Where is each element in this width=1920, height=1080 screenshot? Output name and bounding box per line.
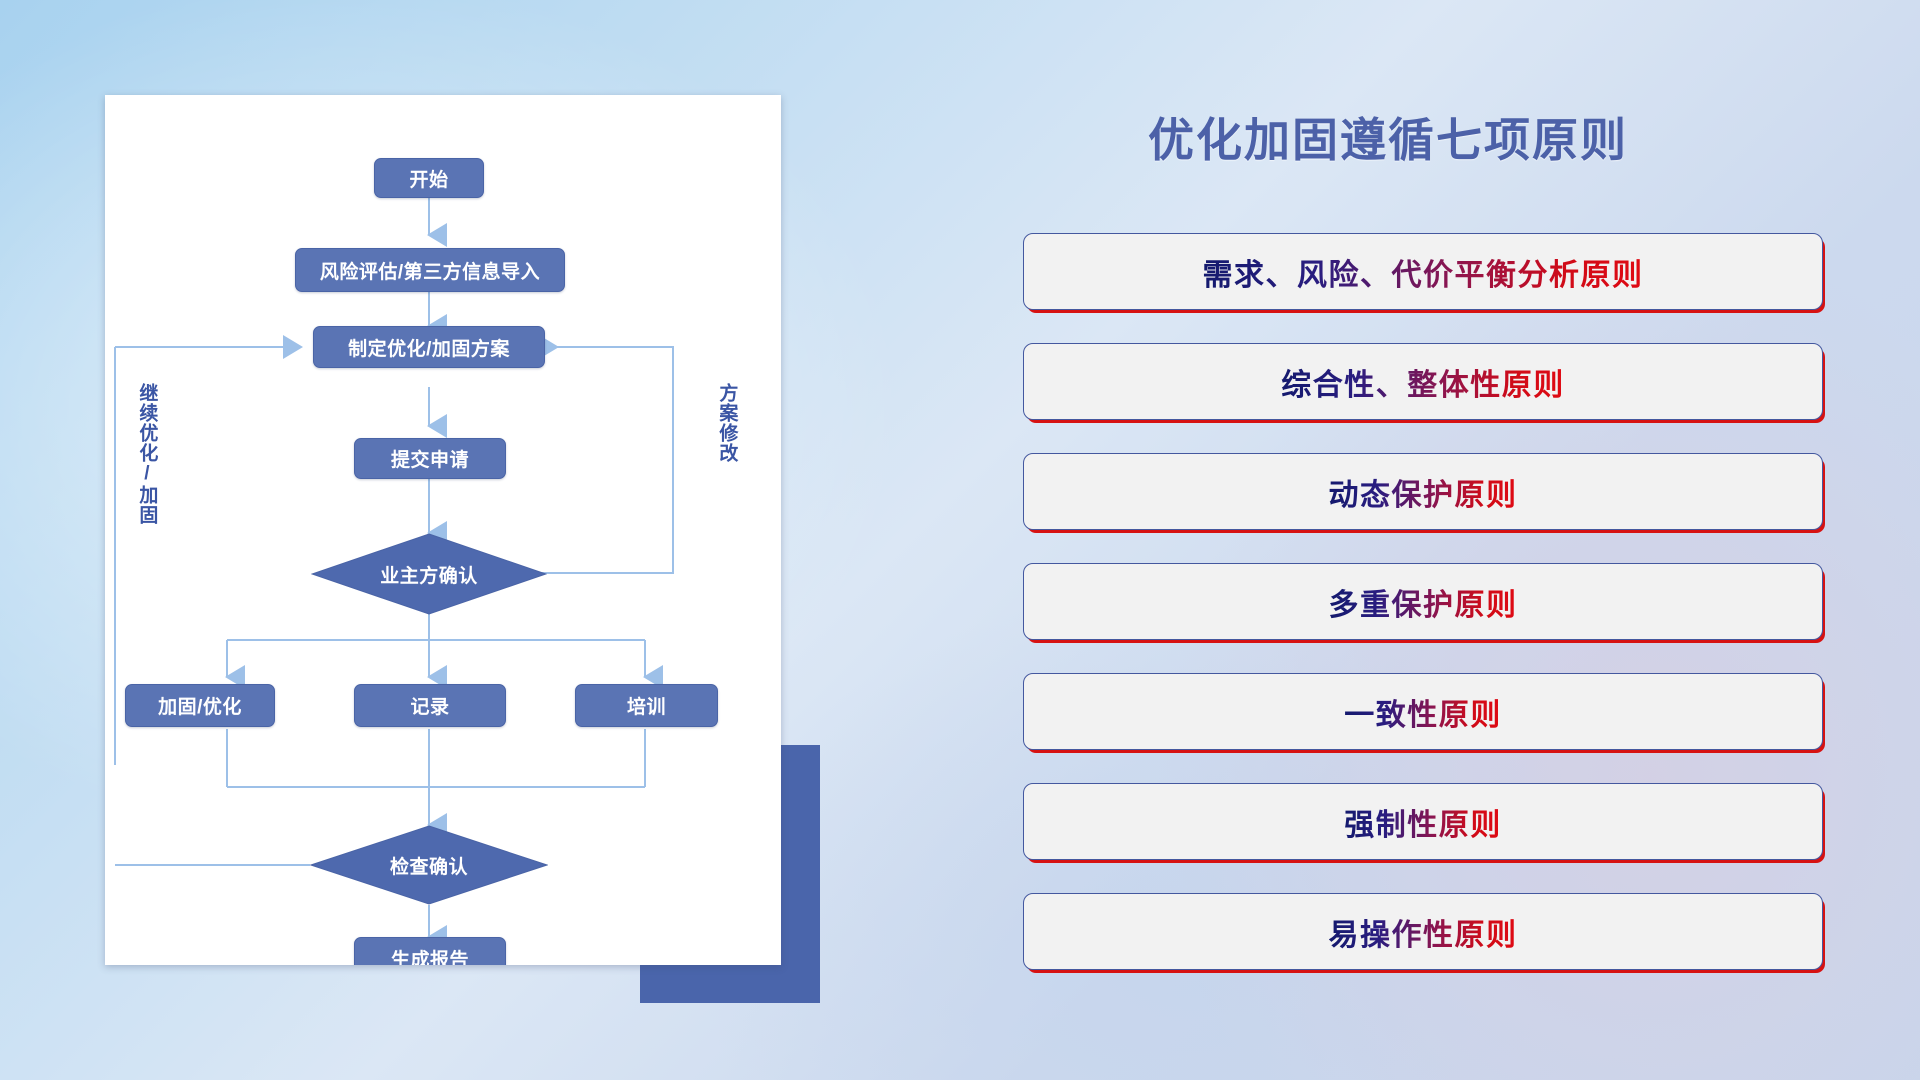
principle-label: 强制性原则	[1344, 800, 1502, 844]
flow-node-owner-confirm[interactable]: 业主方确认	[311, 533, 547, 615]
principle-card-4[interactable]: 多重保护原则	[1023, 563, 1823, 640]
flow-node-risk-assessment[interactable]: 风险评估/第三方信息导入	[295, 248, 565, 292]
flow-node-make-plan-label: 制定优化/加固方案	[348, 334, 510, 361]
flow-node-start-label: 开始	[409, 165, 448, 192]
principle-card-5[interactable]: 一致性原则	[1023, 673, 1823, 750]
flow-node-training-label: 培训	[627, 692, 666, 719]
flow-edge-label-left-loop: 继续优化/加固	[137, 383, 156, 525]
principle-card-7[interactable]: 易操作性原则	[1023, 893, 1823, 970]
flow-edge-label-right-loop: 方案修改	[717, 383, 736, 463]
flow-node-submit-application-label: 提交申请	[391, 445, 469, 472]
flow-node-reinforce-optimize[interactable]: 加固/优化	[125, 684, 275, 727]
principle-card-6[interactable]: 强制性原则	[1023, 783, 1823, 860]
flow-node-risk-assessment-label: 风险评估/第三方信息导入	[320, 257, 540, 284]
principle-label: 一致性原则	[1344, 690, 1502, 734]
flow-node-training[interactable]: 培训	[575, 684, 718, 727]
flow-node-generate-report-label: 生成报告	[391, 945, 469, 966]
principle-card-2[interactable]: 综合性、整体性原则	[1023, 343, 1823, 420]
flowchart-card: 开始 风险评估/第三方信息导入 制定优化/加固方案 提交申请 业主方确认 加固/…	[105, 95, 781, 965]
principle-card-3[interactable]: 动态保护原则	[1023, 453, 1823, 530]
flow-node-make-plan[interactable]: 制定优化/加固方案	[313, 326, 545, 368]
principle-label: 动态保护原则	[1329, 470, 1518, 514]
flow-node-check-confirm[interactable]: 检查确认	[310, 825, 548, 905]
flow-node-record[interactable]: 记录	[354, 684, 506, 727]
page-title: 优化加固遵循七项原则	[1148, 104, 1628, 170]
principle-label: 多重保护原则	[1329, 580, 1518, 624]
flow-node-reinforce-optimize-label: 加固/优化	[158, 692, 242, 719]
flow-node-start[interactable]: 开始	[374, 158, 484, 198]
flow-node-submit-application[interactable]: 提交申请	[354, 438, 506, 479]
principle-label: 易操作性原则	[1329, 910, 1518, 954]
principle-card-1[interactable]: 需求、风险、代价平衡分析原则	[1023, 233, 1823, 310]
flow-node-generate-report[interactable]: 生成报告	[354, 937, 506, 965]
principle-label: 综合性、整体性原则	[1281, 360, 1565, 404]
flow-node-record-label: 记录	[410, 692, 449, 719]
principle-label: 需求、风险、代价平衡分析原则	[1203, 250, 1644, 294]
principles-list: 需求、风险、代价平衡分析原则 综合性、整体性原则 动态保护原则 多重保护原则 一…	[1023, 233, 1823, 970]
